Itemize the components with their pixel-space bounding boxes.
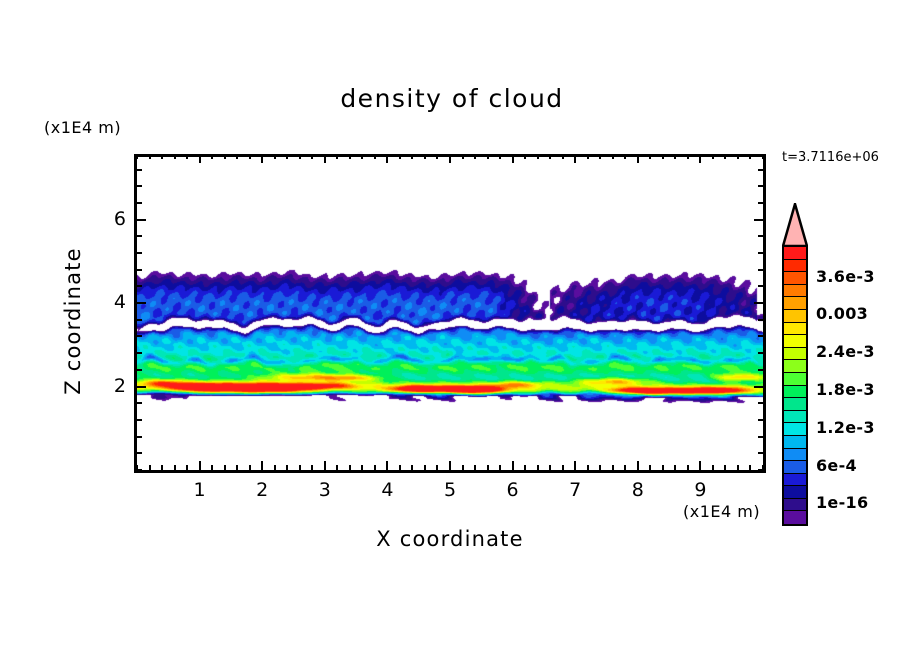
y-tick-minor-right: [758, 436, 763, 438]
x-tick-minor: [149, 465, 151, 470]
colorbar-band: [784, 260, 806, 273]
x-tick-minor: [249, 465, 251, 470]
colorbar-band: [784, 436, 806, 449]
y-tick-minor-right: [758, 169, 763, 171]
y-tick-minor-right: [758, 369, 763, 371]
colorbar-band: [784, 373, 806, 386]
y-tick-minor: [137, 202, 142, 204]
page-title: density of cloud: [0, 84, 904, 113]
y-tick-minor: [137, 402, 142, 404]
colorbar-band: [784, 449, 806, 462]
x-tick-minor: [612, 465, 614, 470]
y-tick-major: [137, 219, 146, 221]
x-tick-minor: [749, 465, 751, 470]
x-tick-minor-top: [311, 154, 313, 159]
x-tick-label: 5: [430, 479, 470, 501]
x-tick-minor-top: [737, 154, 739, 159]
x-tick-minor: [224, 465, 226, 470]
y-tick-major: [137, 386, 146, 388]
x-tick-minor-top: [424, 154, 426, 159]
y-tick-minor-right: [758, 452, 763, 454]
colorbar-band: [784, 499, 806, 512]
x-tick-major: [324, 461, 326, 470]
x-tick-minor-top: [562, 154, 564, 159]
x-tick-minor: [712, 465, 714, 470]
colorbar-band: [784, 348, 806, 361]
y-tick-minor: [137, 285, 142, 287]
y-tick-minor-right: [758, 402, 763, 404]
y-tick-label: 6: [86, 208, 126, 230]
colorbar-tick-label: 6e-4: [816, 456, 857, 475]
x-tick-minor-top: [374, 154, 376, 159]
y-tick-minor: [137, 319, 142, 321]
y-tick-minor: [137, 352, 142, 354]
colorbar-bands: [782, 245, 808, 526]
y-tick-minor-right: [758, 352, 763, 354]
y-tick-minor: [137, 169, 142, 171]
x-tick-minor-top: [487, 154, 489, 159]
x-tick-major: [386, 461, 388, 470]
x-tick-minor: [236, 465, 238, 470]
x-tick-minor-top: [624, 154, 626, 159]
x-tick-minor: [211, 465, 213, 470]
x-tick-minor-top: [336, 154, 338, 159]
y-tick-minor-right: [758, 419, 763, 421]
colorbar-tick-label: 1.8e-3: [816, 380, 875, 399]
x-tick-minor: [499, 465, 501, 470]
x-tick-minor: [462, 465, 464, 470]
x-tick-minor-top: [462, 154, 464, 159]
y-tick-minor-right: [758, 285, 763, 287]
timestamp-annotation: t=3.7116e+06: [782, 150, 879, 165]
colorbar-cap-svg: [782, 203, 808, 247]
x-tick-label: 3: [305, 479, 345, 501]
x-tick-minor-top: [687, 154, 689, 159]
y-tick-minor-right: [758, 202, 763, 204]
colorbar-band: [784, 360, 806, 373]
x-tick-minor-top: [411, 154, 413, 159]
x-tick-minor-top: [499, 154, 501, 159]
y-tick-minor-right: [758, 319, 763, 321]
x-tick-minor: [411, 465, 413, 470]
x-tick-minor-top: [349, 154, 351, 159]
x-tick-major: [699, 461, 701, 470]
x-tick-major-top: [637, 154, 639, 163]
x-tick-minor-top: [599, 154, 601, 159]
x-tick-minor-top: [286, 154, 288, 159]
y-tick-minor: [137, 469, 142, 471]
x-tick-minor: [549, 465, 551, 470]
x-tick-minor-top: [211, 154, 213, 159]
x-tick-minor: [274, 465, 276, 470]
y-axis-title: Z coordinate: [61, 201, 85, 441]
x-tick-minor: [349, 465, 351, 470]
colorbar-band: [784, 423, 806, 436]
x-tick-minor-top: [662, 154, 664, 159]
x-tick-minor: [186, 465, 188, 470]
x-tick-major-top: [199, 154, 201, 163]
x-tick-minor: [562, 465, 564, 470]
colorbar-tick-label: 2.4e-3: [816, 342, 875, 361]
colorbar-band: [784, 335, 806, 348]
y-tick-minor-right: [758, 252, 763, 254]
x-tick-label: 4: [367, 479, 407, 501]
x-tick-minor-top: [399, 154, 401, 159]
y-tick-minor: [137, 185, 142, 187]
x-tick-label: 8: [618, 479, 658, 501]
colorbar-tick-label: 0.003: [816, 304, 868, 323]
colorbar-band: [784, 511, 806, 524]
x-tick-major-top: [449, 154, 451, 163]
y-tick-minor: [137, 419, 142, 421]
x-tick-minor: [174, 465, 176, 470]
x-tick-minor: [487, 465, 489, 470]
plot-frame: [134, 154, 766, 473]
x-tick-label: 1: [180, 479, 220, 501]
x-tick-major: [449, 461, 451, 470]
x-tick-major-top: [574, 154, 576, 163]
x-tick-minor-top: [249, 154, 251, 159]
y-tick-minor: [137, 269, 142, 271]
x-tick-label: 7: [555, 479, 595, 501]
x-tick-minor-top: [674, 154, 676, 159]
x-tick-major-top: [386, 154, 388, 163]
x-tick-minor: [286, 465, 288, 470]
x-tick-minor-top: [174, 154, 176, 159]
x-tick-major: [637, 461, 639, 470]
x-tick-major: [261, 461, 263, 470]
colorbar-band: [784, 297, 806, 310]
x-axis-title: X coordinate: [134, 527, 766, 551]
y-tick-minor: [137, 235, 142, 237]
colorbar-band: [784, 486, 806, 499]
y-tick-minor-right: [758, 269, 763, 271]
colorbar-band: [784, 247, 806, 260]
x-tick-major: [574, 461, 576, 470]
x-tick-minor-top: [762, 154, 764, 159]
x-tick-minor-top: [724, 154, 726, 159]
y-tick-major-right: [754, 386, 763, 388]
y-tick-minor: [137, 436, 142, 438]
contour-field: [137, 157, 763, 470]
x-tick-minor-top: [649, 154, 651, 159]
colorbar-band: [784, 474, 806, 487]
x-tick-minor: [299, 465, 301, 470]
colorbar-band: [784, 461, 806, 474]
x-tick-minor: [399, 465, 401, 470]
x-tick-minor-top: [161, 154, 163, 159]
colorbar-tick-label: 1e-16: [816, 493, 868, 512]
x-tick-minor: [474, 465, 476, 470]
y-tick-minor-right: [758, 185, 763, 187]
y-tick-label: 2: [86, 375, 126, 397]
x-tick-minor: [674, 465, 676, 470]
figure-canvas: density of cloud (x1E4 m) (x1E4 m) t=3.7…: [0, 0, 904, 654]
x-tick-minor: [662, 465, 664, 470]
x-tick-minor-top: [361, 154, 363, 159]
x-tick-minor: [161, 465, 163, 470]
x-tick-minor-top: [224, 154, 226, 159]
x-tick-minor: [311, 465, 313, 470]
x-tick-minor-top: [436, 154, 438, 159]
x-tick-minor-top: [549, 154, 551, 159]
x-tick-minor: [524, 465, 526, 470]
y-tick-label: 4: [86, 291, 126, 313]
y-tick-minor-right: [758, 335, 763, 337]
x-tick-label: 9: [680, 479, 720, 501]
x-tick-minor-top: [587, 154, 589, 159]
colorbar-band: [784, 411, 806, 424]
x-tick-minor: [587, 465, 589, 470]
x-tick-minor-top: [612, 154, 614, 159]
x-tick-minor: [361, 465, 363, 470]
x-tick-major-top: [324, 154, 326, 163]
colorbar-tick-label: 3.6e-3: [816, 267, 875, 286]
y-tick-major-right: [754, 219, 763, 221]
x-tick-minor-top: [136, 154, 138, 159]
y-tick-minor: [137, 452, 142, 454]
y-tick-minor: [137, 369, 142, 371]
colorbar-tick-label: 1.2e-3: [816, 418, 875, 437]
x-tick-minor: [336, 465, 338, 470]
x-tick-minor-top: [299, 154, 301, 159]
colorbar-band: [784, 272, 806, 285]
x-tick-minor: [624, 465, 626, 470]
colorbar-band: [784, 386, 806, 399]
x-tick-major-top: [699, 154, 701, 163]
x-tick-minor: [374, 465, 376, 470]
x-tick-minor: [599, 465, 601, 470]
x-tick-minor: [424, 465, 426, 470]
x-axis-unit-label: (x1E4 m): [683, 502, 760, 521]
x-tick-label: 2: [242, 479, 282, 501]
x-tick-major-top: [261, 154, 263, 163]
colorbar-band: [784, 310, 806, 323]
colorbar-band: [784, 323, 806, 336]
colorbar-band: [784, 398, 806, 411]
y-tick-minor-right: [758, 235, 763, 237]
y-tick-minor: [137, 252, 142, 254]
y-tick-minor-right: [758, 469, 763, 471]
x-tick-minor-top: [274, 154, 276, 159]
x-tick-minor: [537, 465, 539, 470]
x-tick-minor-top: [474, 154, 476, 159]
y-tick-major-right: [754, 302, 763, 304]
x-tick-minor-top: [712, 154, 714, 159]
x-tick-label: 6: [493, 479, 533, 501]
y-tick-major: [137, 302, 146, 304]
y-tick-minor: [137, 335, 142, 337]
x-tick-major: [512, 461, 514, 470]
x-tick-minor: [649, 465, 651, 470]
x-tick-minor: [724, 465, 726, 470]
x-tick-minor: [436, 465, 438, 470]
x-tick-minor: [737, 465, 739, 470]
x-tick-minor-top: [524, 154, 526, 159]
x-tick-minor-top: [537, 154, 539, 159]
x-tick-minor: [687, 465, 689, 470]
x-tick-major: [199, 461, 201, 470]
x-tick-minor-top: [186, 154, 188, 159]
x-tick-minor-top: [236, 154, 238, 159]
x-tick-minor-top: [749, 154, 751, 159]
x-tick-minor-top: [149, 154, 151, 159]
x-tick-major-top: [512, 154, 514, 163]
y-axis-unit-label: (x1E4 m): [44, 118, 121, 137]
colorbar-band: [784, 285, 806, 298]
